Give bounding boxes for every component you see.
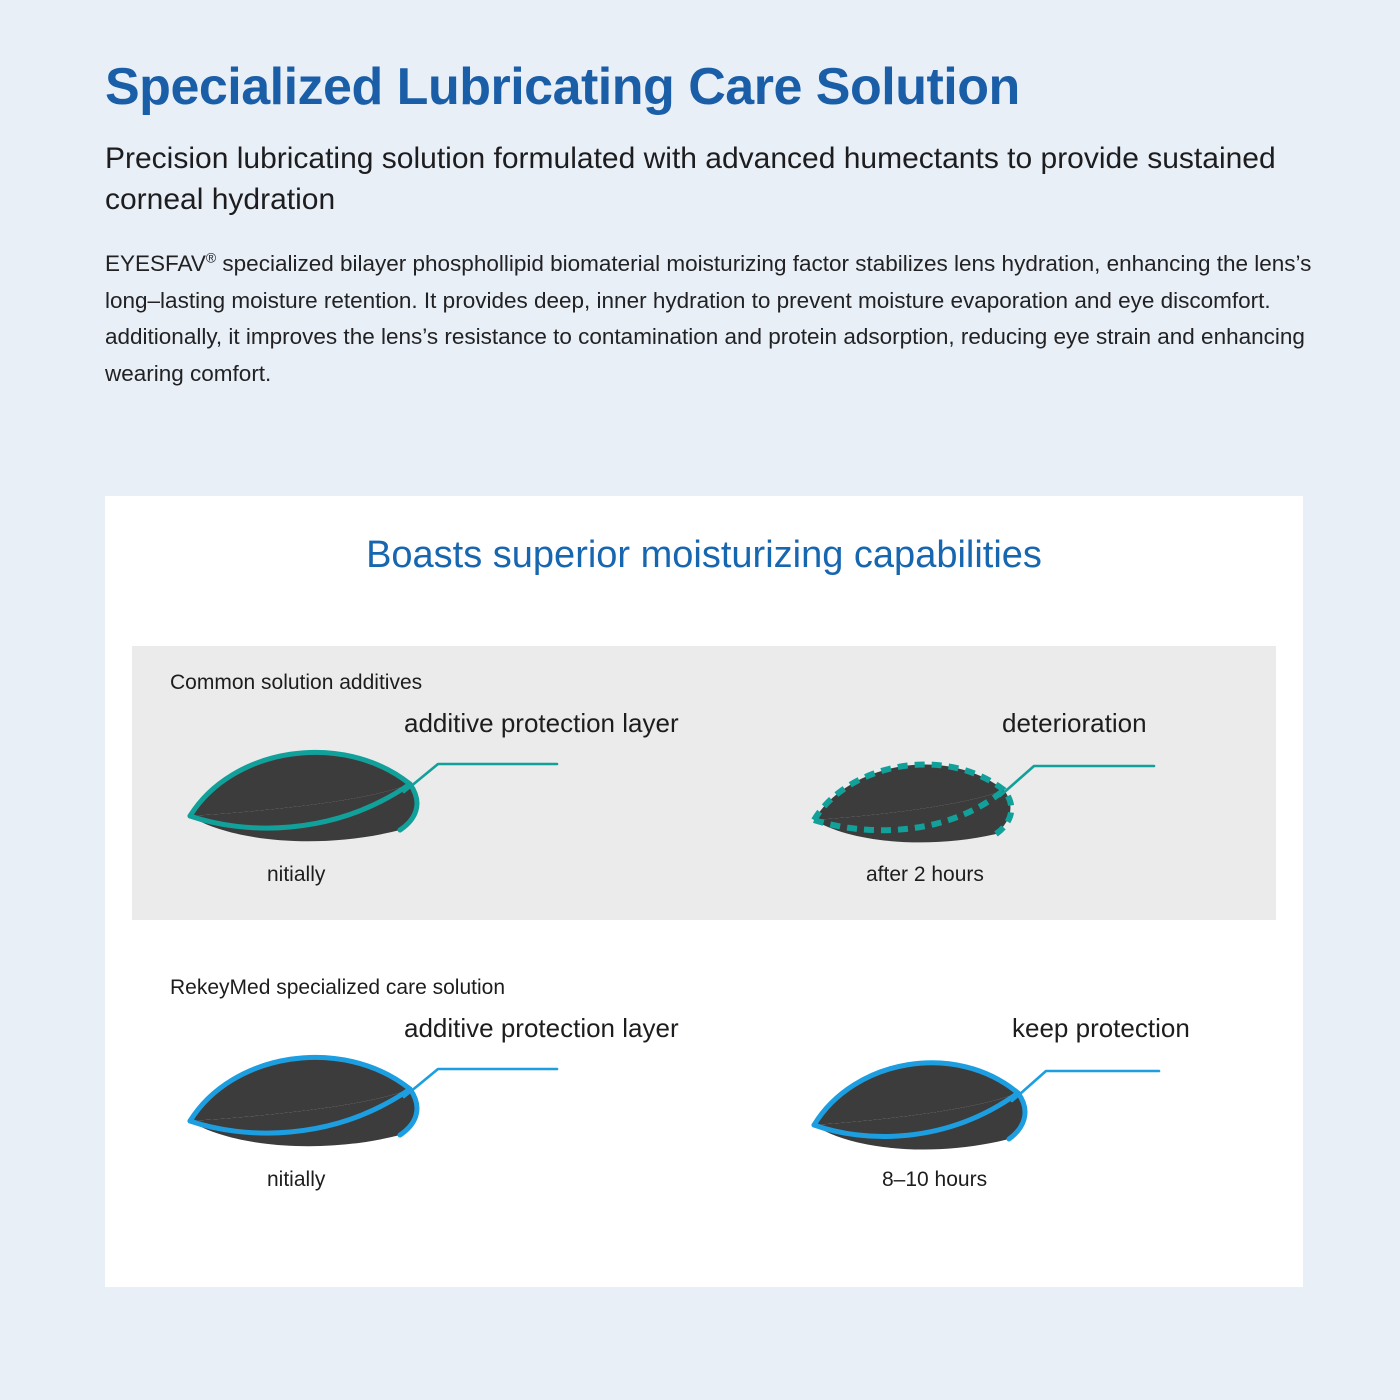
panel-common-solution-additives: Common solution additives additive prote… [132,646,1276,920]
callout-label: keep protection [1012,1013,1190,1044]
leader-line-icon [404,1069,557,1097]
callout-label: additive protection layer [404,708,679,739]
diagram-rekeymed-initial: additive protection layer nitially [172,1013,642,1218]
stage-label: 8–10 hours [882,1168,987,1192]
product-info-page: Specialized Lubricating Care Solution Pr… [0,0,1400,1400]
diagram-common-initial: additive protection layer nitially [172,708,642,913]
stage-label: nitially [267,1168,325,1192]
panel-rekeymed-care-solution: RekeyMed specialized care solution addit… [132,951,1276,1256]
stage-label: nitially [267,863,325,887]
leader-line-icon [404,764,557,792]
body-text: specialized bilayer phosphollipid biomat… [105,251,1311,385]
page-title: Specialized Lubricating Care Solution [105,58,1335,116]
brand-name: EYESFAV [105,251,206,276]
page-subtitle: Precision lubricating solution formulate… [105,138,1335,220]
diagram-rekeymed-8-10-hours: keep protection 8–10 hours [804,1013,1274,1218]
diagram-row-common: additive protection layer nitially deter… [132,708,1276,918]
header-block: Specialized Lubricating Care Solution Pr… [105,58,1335,392]
diagram-row-rekeymed: additive protection layer nitially keep … [132,1013,1276,1223]
card-title: Boasts superior moisturizing capabilitie… [105,534,1303,577]
leader-line-icon [1000,766,1154,796]
panel-label: Common solution additives [170,671,422,695]
stage-label: after 2 hours [866,863,984,887]
leader-line-icon [1012,1071,1159,1101]
callout-label: additive protection layer [404,1013,679,1044]
comparison-card: Boasts superior moisturizing capabilitie… [105,496,1303,1287]
page-body-paragraph: EYESFAV® specialized bilayer phosphollip… [105,246,1325,392]
registered-trademark-icon: ® [206,250,216,266]
callout-label: deterioration [1002,708,1147,739]
panel-label: RekeyMed specialized care solution [170,976,505,1000]
diagram-common-after-2-hours: deterioration after 2 hours [804,708,1274,913]
